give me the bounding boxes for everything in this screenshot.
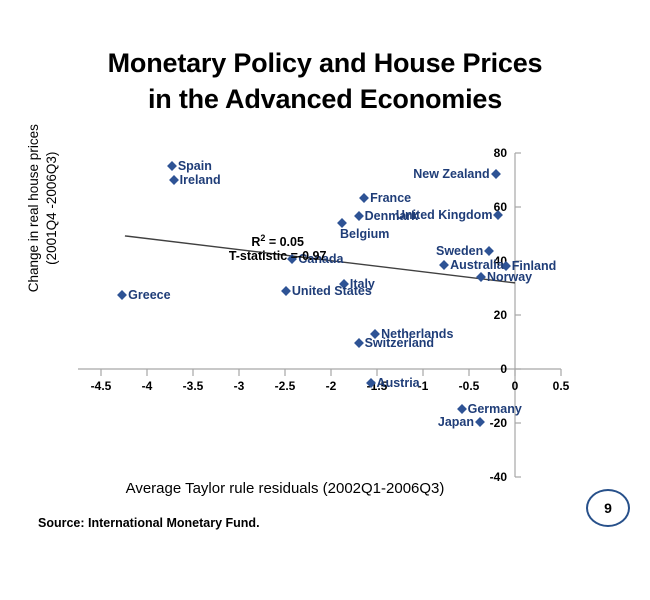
data-point-label: Japan — [438, 415, 474, 429]
data-point-label: Sweden — [436, 244, 483, 258]
x-tick-label: -2.5 — [275, 379, 296, 393]
data-point-label: Austria — [377, 376, 420, 390]
data-point-marker — [476, 272, 486, 282]
x-tick-label: -3.5 — [183, 379, 204, 393]
data-point-label: Switzerland — [365, 336, 434, 350]
scatter-chart: 806040200-20-40-4.5-4-3.5-3-2.5-2-1.5-1-… — [0, 0, 650, 600]
source-note: Source: International Monetary Fund. — [38, 516, 260, 530]
x-tick-label: -4.5 — [91, 379, 112, 393]
x-tick-label: 0.5 — [553, 379, 570, 393]
data-point-marker — [491, 169, 501, 179]
data-point-marker — [439, 260, 449, 270]
data-point-label: Greece — [128, 288, 170, 302]
data-point-marker — [354, 338, 364, 348]
y-tick-label: 80 — [467, 146, 507, 160]
data-point-label: Spain — [178, 159, 212, 173]
y-tick-label: 20 — [467, 308, 507, 322]
data-point-label: France — [370, 191, 411, 205]
data-point-marker — [354, 211, 364, 221]
data-point-marker — [169, 175, 179, 185]
data-point-marker — [281, 286, 291, 296]
x-tick-label: -3 — [234, 379, 245, 393]
y-axis-title-line-1: Change in real house prices — [25, 93, 43, 323]
data-point-label: Norway — [487, 270, 532, 284]
chart-overlay: 806040200-20-40-4.5-4-3.5-3-2.5-2-1.5-1-… — [0, 0, 650, 600]
data-point-marker — [117, 290, 127, 300]
y-tick-label: 0 — [467, 362, 507, 376]
data-point-label: Germany — [468, 402, 522, 416]
chart-annotation: R2 = 0.05 — [251, 233, 304, 249]
x-tick-label: 0 — [512, 379, 519, 393]
data-point-marker — [457, 404, 467, 414]
page-number-value: 9 — [604, 500, 612, 516]
data-point-label: New Zealand — [413, 167, 489, 181]
data-point-label: Denmark — [365, 209, 419, 223]
x-axis-title: Average Taylor rule residuals (2002Q1-20… — [60, 480, 510, 497]
data-point-marker — [167, 161, 177, 171]
y-axis-title-line-2: (2001Q4 -2006Q3) — [43, 93, 61, 323]
x-tick-label: -2 — [326, 379, 337, 393]
y-axis-title: Change in real house prices (2001Q4 -200… — [25, 93, 61, 323]
x-tick-label: -0.5 — [459, 379, 480, 393]
data-point-label: United States — [292, 284, 372, 298]
page-number-badge: 9 — [586, 489, 630, 527]
data-point-label: Ireland — [180, 173, 221, 187]
chart-annotation: T-statistic =-0.97 — [229, 249, 327, 263]
data-point-marker — [359, 193, 369, 203]
data-point-label: Belgium — [340, 227, 389, 241]
x-tick-label: -4 — [142, 379, 153, 393]
